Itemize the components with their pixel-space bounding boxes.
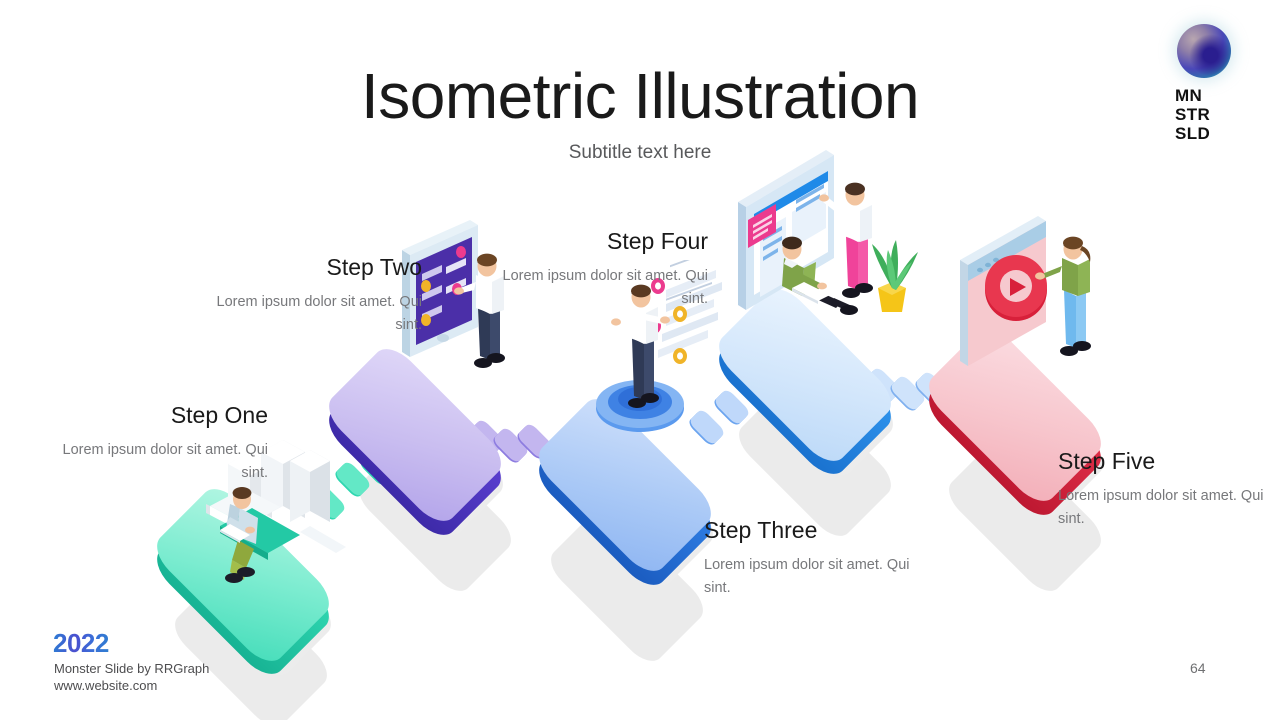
step-five-title: Step Five (1058, 446, 1280, 476)
step-five-description: Lorem ipsum dolor sit amet. Qui sint. (1058, 485, 1280, 531)
step-four-title: Step Four (478, 226, 708, 256)
step-three-text-block: Step Three Lorem ipsum dolor sit amet. Q… (704, 515, 934, 600)
step-two-title: Step Two (192, 252, 422, 282)
platform-step-four (720, 290, 890, 460)
step-two-description: Lorem ipsum dolor sit amet. Qui sint. (192, 291, 422, 337)
step-four-description: Lorem ipsum dolor sit amet. Qui sint. (478, 265, 708, 311)
illustration-step-five (930, 212, 1140, 392)
step-one-title: Step One (38, 400, 268, 430)
step-three-description: Lorem ipsum dolor sit amet. Qui sint. (704, 554, 934, 600)
slide-canvas: Isometric Illustration Subtitle text her… (0, 0, 1280, 720)
page-number: 64 (1190, 660, 1206, 676)
footer-website: www.website.com (54, 678, 157, 693)
step-one-text-block: Step One Lorem ipsum dolor sit amet. Qui… (38, 400, 268, 485)
step-two-text-block: Step Two Lorem ipsum dolor sit amet. Qui… (192, 252, 422, 337)
footer-brand: Monster Slide by RRGraph (54, 661, 209, 676)
step-three-title: Step Three (704, 515, 934, 545)
platform-step-one (158, 490, 328, 660)
step-five-text-block: Step Five Lorem ipsum dolor sit amet. Qu… (1058, 446, 1280, 531)
isometric-illustration (0, 0, 1280, 720)
illustration-step-four (718, 140, 948, 350)
step-one-description: Lorem ipsum dolor sit amet. Qui sint. (38, 439, 268, 485)
platform-step-two (330, 350, 500, 520)
footer-year: 2022 (53, 628, 109, 659)
platform-step-three (540, 400, 710, 570)
step-four-text-block: Step Four Lorem ipsum dolor sit amet. Qu… (478, 226, 708, 311)
